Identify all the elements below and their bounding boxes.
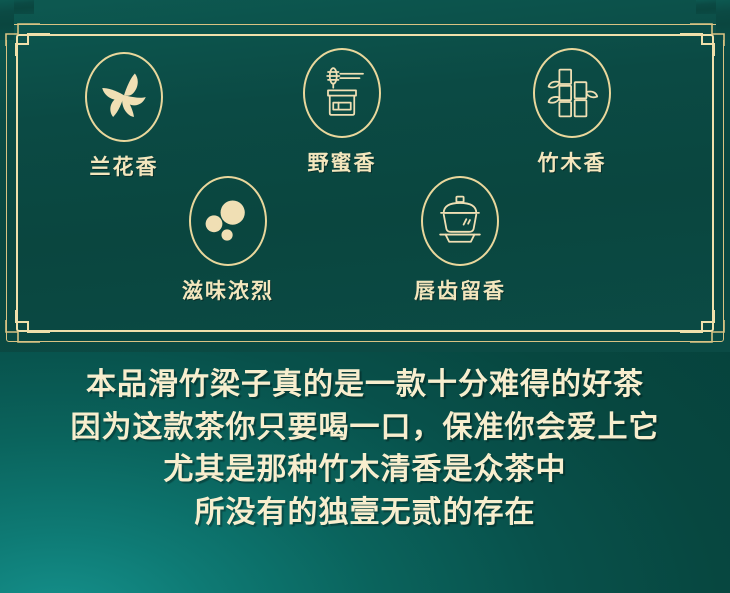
feature-label-honey: 野蜜香 xyxy=(282,147,402,177)
copy-line-1: 本品滑竹梁子真的是一款十分难得的好茶 xyxy=(86,364,644,407)
bamboo-stalks-icon xyxy=(545,64,599,122)
copy-line-4: 所没有的独壹无贰的存在 xyxy=(195,492,536,535)
honey-jar-dipper-icon xyxy=(314,64,370,122)
feature-item-honey[interactable]: 野蜜香 xyxy=(282,48,402,177)
copy-line-2: 因为这款茶你只要喝一口，保准你会爱上它 xyxy=(71,407,660,450)
bamboo-ring xyxy=(533,48,611,138)
orchid-flower-icon xyxy=(95,68,153,126)
feature-item-orchid[interactable]: 兰花香 xyxy=(64,52,184,181)
feature-item-strong-taste[interactable]: 滋味浓烈 xyxy=(168,176,288,305)
bubbles-icon xyxy=(200,193,256,249)
feature-label-orchid: 兰花香 xyxy=(64,151,184,181)
copy-line-3: 尤其是那种竹木清香是众茶中 xyxy=(164,449,567,492)
bubbles-ring xyxy=(189,176,267,266)
honey-ring xyxy=(303,48,381,138)
marketing-copy: 本品滑竹梁子真的是一款十分难得的好茶 因为这款茶你只要喝一口，保准你会爱上它 尤… xyxy=(0,352,730,593)
gaiwan-teacup-icon xyxy=(431,193,489,249)
feature-label-bamboo: 竹木香 xyxy=(512,147,632,177)
feature-panel: 兰花香 xyxy=(0,0,730,352)
orchid-ring xyxy=(85,52,163,142)
promo-banner: 兰花香 xyxy=(0,0,730,593)
feature-label-strong-taste: 滋味浓烈 xyxy=(168,275,288,305)
feature-label-aftertaste: 唇齿留香 xyxy=(395,275,525,305)
gaiwan-ring xyxy=(421,176,499,266)
feature-item-bamboo[interactable]: 竹木香 xyxy=(512,48,632,177)
feature-item-aftertaste[interactable]: 唇齿留香 xyxy=(395,176,525,305)
